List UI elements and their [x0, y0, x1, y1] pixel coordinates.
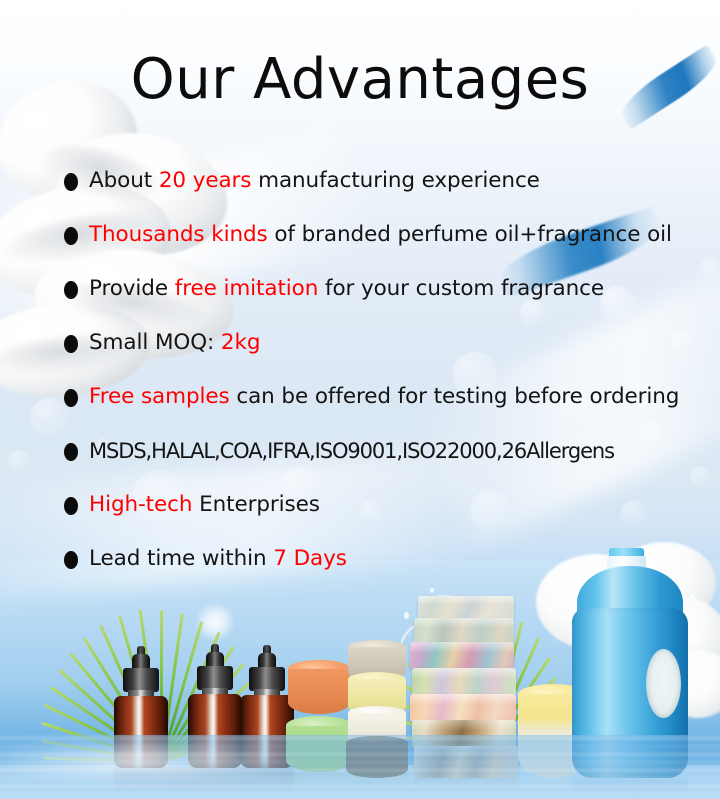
- advantages-list: About 20 years manufacturing experience …: [64, 154, 679, 586]
- highlight-text: High-tech: [89, 492, 192, 517]
- list-item-label: Provide free imitation for your custom f…: [89, 278, 604, 300]
- bullet-dot-icon: [64, 443, 78, 461]
- list-item-label: Thousands kinds of branded perfume oil+f…: [89, 224, 672, 246]
- list-item: Free samples can be offered for testing …: [64, 370, 679, 424]
- list-item-label: MSDS,HALAL,COA,IFRA,ISO9001,ISO22000,26A…: [89, 441, 614, 462]
- highlight-text: 7 Days: [273, 546, 347, 571]
- list-item: Lead time within 7 Days: [64, 532, 679, 586]
- highlight-text: free imitation: [175, 276, 319, 301]
- highlight-text: 20 years: [159, 168, 252, 193]
- list-item: High-tech Enterprises: [64, 478, 679, 532]
- highlight-text: Free samples: [89, 384, 230, 409]
- highlight-text: Thousands kinds: [89, 222, 268, 247]
- list-item: Small MOQ: 2kg: [64, 316, 679, 370]
- highlight-text: 2kg: [221, 330, 260, 355]
- bullet-dot-icon: [64, 497, 78, 515]
- bullet-dot-icon: [64, 227, 78, 245]
- list-item: Provide free imitation for your custom f…: [64, 262, 679, 316]
- bullet-dot-icon: [64, 389, 78, 407]
- bullet-dot-icon: [64, 173, 78, 191]
- page-title: Our Advantages: [0, 52, 720, 108]
- list-item-label: High-tech Enterprises: [89, 494, 320, 516]
- bullet-dot-icon: [64, 281, 78, 299]
- list-item-label: Lead time within 7 Days: [89, 548, 347, 570]
- bullet-dot-icon: [64, 551, 78, 569]
- list-item-label: Small MOQ: 2kg: [89, 332, 260, 354]
- list-item: Thousands kinds of branded perfume oil+f…: [64, 208, 679, 262]
- list-item: MSDS,HALAL,COA,IFRA,ISO9001,ISO22000,26A…: [64, 424, 679, 478]
- advantages-poster: Our Advantages About 20 years manufactur…: [0, 0, 720, 799]
- list-item-label: Free samples can be offered for testing …: [89, 386, 679, 408]
- list-item: About 20 years manufacturing experience: [64, 154, 679, 208]
- bullet-dot-icon: [64, 335, 78, 353]
- list-item-label: About 20 years manufacturing experience: [89, 170, 540, 192]
